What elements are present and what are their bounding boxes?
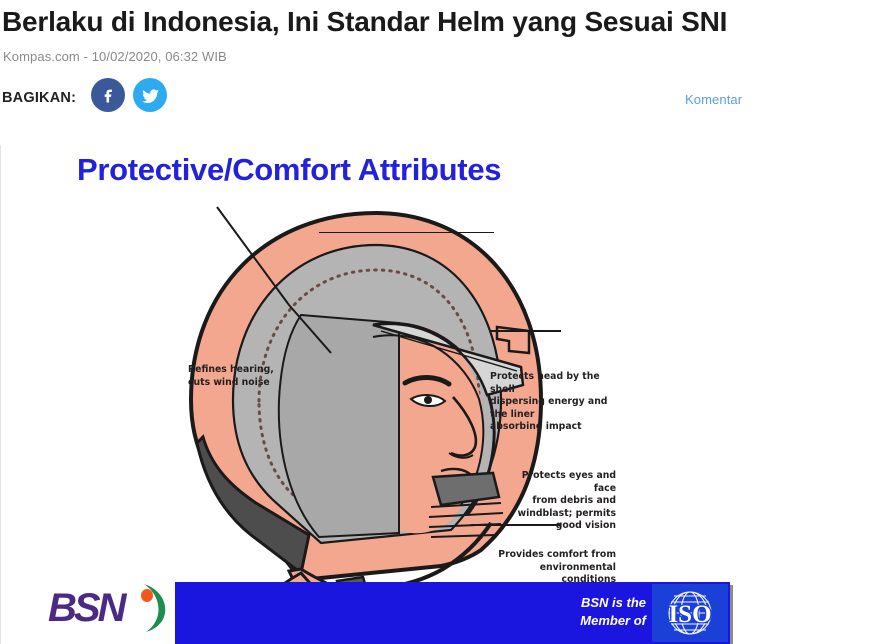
bsn-logo-text: BSN <box>48 586 123 631</box>
share-twitter-button[interactable] <box>133 78 167 112</box>
facebook-icon <box>98 85 118 105</box>
annotation-protects-eyes: Protects eyes and face from debris and w… <box>498 470 616 533</box>
annotation-protects-head: Protects head by the shell dispersing en… <box>490 371 622 434</box>
bsn-logo: BSN <box>48 582 178 634</box>
share-label: BAGIKAN: <box>2 90 76 106</box>
share-row: BAGIKAN: Komentar <box>0 78 892 132</box>
comment-link[interactable]: Komentar <box>685 92 742 107</box>
iso-wordmark: ISO <box>668 601 711 628</box>
page-title: Berlaku di Indonesia, Ini Standar Helm y… <box>0 2 892 40</box>
iso-globe-icon: ISO <box>655 586 725 640</box>
pupil <box>424 396 432 404</box>
bsn-member-text: BSN is the Member of <box>580 594 646 630</box>
article-header: Berlaku di Indonesia, Ini Standar Helm y… <box>0 0 892 64</box>
figure-title: Protective/Comfort Attributes <box>77 152 501 188</box>
helmet-inner-pad <box>279 315 399 537</box>
bsn-banner: BSN BSN is the Member of ISO <box>0 570 892 644</box>
social-buttons <box>91 78 167 112</box>
leader-line-shell-top <box>319 232 494 233</box>
article-byline: Kompas.com - 10/02/2020, 06:32 WIB <box>0 40 892 64</box>
bsn-blue-banner: BSN is the Member of ISO <box>175 582 730 644</box>
twitter-icon <box>140 85 161 106</box>
bsn-logo-dot <box>141 589 153 602</box>
iso-logo: ISO <box>652 584 728 642</box>
annotation-refines-hearing: Refines hearing, cuts wind noise <box>188 364 308 389</box>
share-facebook-button[interactable] <box>91 78 125 112</box>
